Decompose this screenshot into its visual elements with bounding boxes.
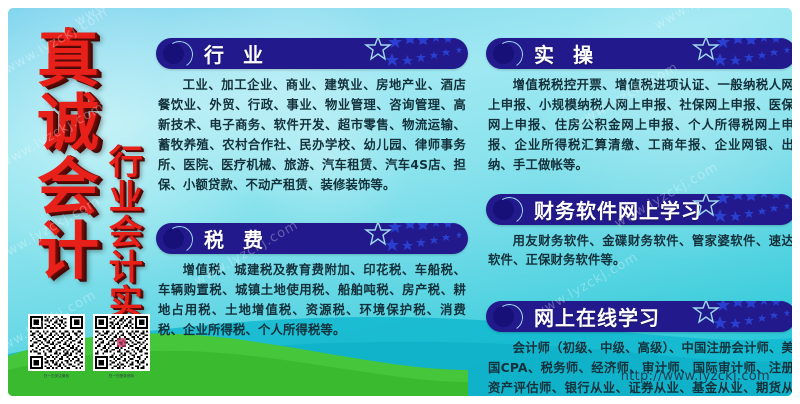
website-url[interactable]: http://www.lyzckj.com <box>621 369 770 384</box>
qr-code-2[interactable] <box>93 314 150 371</box>
stars-icon <box>364 223 468 254</box>
poster-canvas: 真诚会计 行业会计实训 <box>0 0 800 404</box>
section-header-bar: 财务软件网上学习 <box>486 194 792 225</box>
arc-icon <box>493 194 525 225</box>
section-header-bar: 行 业 <box>156 38 468 69</box>
section-finance-software: 财务软件网上学习 <box>486 194 792 272</box>
stars-icon <box>692 194 792 225</box>
stars-icon <box>692 38 792 69</box>
section-header-bar: 实 操 <box>486 38 792 69</box>
section-title: 实 操 <box>534 39 599 68</box>
qr-code-caption: 扫一扫登录官网 <box>93 373 150 378</box>
section-title: 税 费 <box>204 224 269 253</box>
section-body: 会计师（初级、中级、高级）、中国注册会计师、美国CPA、税务师、经济师、审计师、… <box>488 339 792 396</box>
qr-code-1[interactable] <box>28 314 85 371</box>
section-tax: 税 费 <box>156 223 468 341</box>
qr-code-item[interactable]: 扫一扫关注微信 <box>28 314 85 378</box>
poster-board: 真诚会计 行业会计实训 <box>8 8 792 396</box>
qr-code-caption: 扫一扫关注微信 <box>28 373 85 378</box>
section-body: 增值税税控开票、增值税进项认证、一般纳税人网上申报、小规模纳税人网上申报、社保网… <box>488 76 792 176</box>
section-title: 网上在线学习 <box>534 302 660 331</box>
page-title: 真诚会计 <box>34 26 91 282</box>
section-body: 增值税、城建税及教育费附加、印花税、车船税、车辆购置税、城镇土地使用税、船舶吨税… <box>158 261 466 341</box>
section-body: 工业、加工企业、商业、建筑业、房地产业、酒店餐饮业、外贸、行政、事业、物业管理、… <box>158 76 466 195</box>
section-title: 行 业 <box>204 39 269 68</box>
qr-code-area: 扫一扫关注微信 <box>28 314 150 378</box>
section-industry: 行 业 <box>156 38 468 195</box>
content-column-right: 实 操 <box>486 16 792 396</box>
stars-icon <box>692 301 792 332</box>
section-body: 用友财务软件、金碟财务软件、管家婆软件、速达软件、正保财务软件等。 <box>488 232 792 272</box>
qr-code-item[interactable]: 扫一扫登录官网 <box>93 314 150 378</box>
section-header-bar: 网上在线学习 <box>486 301 792 332</box>
section-practice: 实 操 <box>486 38 792 176</box>
section-header-bar: 税 费 <box>156 223 468 254</box>
section-title: 财务软件网上学习 <box>534 195 702 224</box>
content-column-left: 行 业 <box>156 16 468 345</box>
stars-icon <box>364 38 468 69</box>
